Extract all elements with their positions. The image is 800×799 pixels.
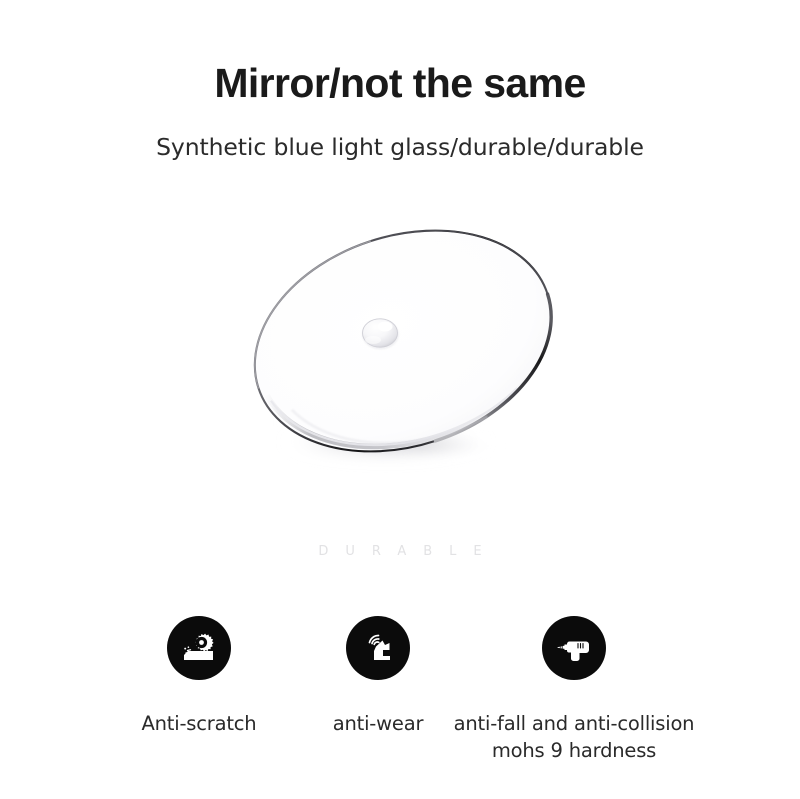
page-title: Mirror/not the same (0, 58, 800, 108)
feature-label-line2: mohs 9 hardness (434, 737, 714, 764)
feature-item-anti-fall: anti-fall and anti-collision mohs 9 hard… (434, 616, 714, 764)
feature-label-line1: anti-fall and anti-collision (454, 712, 695, 735)
water-droplet (362, 319, 399, 350)
product-feature-page: Mirror/not the same Synthetic blue light… (0, 0, 800, 799)
disc-shadow (276, 409, 504, 460)
feature-list: Anti-scratch anti-wear (0, 616, 800, 786)
power-drill-icon (554, 628, 594, 668)
disc-body (228, 214, 578, 488)
disc-edge-thickness (267, 317, 536, 482)
abrasion-wave-icon (359, 629, 397, 667)
feature-label-line1: anti-wear (333, 712, 424, 735)
feature-label: anti-fall and anti-collision mohs 9 hard… (434, 710, 714, 764)
glass-disc-illustration (228, 214, 578, 504)
disc-rim (228, 214, 578, 488)
header: Mirror/not the same Synthetic blue light… (0, 58, 800, 163)
feature-icon-badge (542, 616, 606, 680)
feature-icon-badge (167, 616, 231, 680)
circular-saw-blade-icon (179, 628, 219, 668)
feature-label-line1: Anti-scratch (142, 712, 257, 735)
page-subtitle: Synthetic blue light glass/durable/durab… (0, 108, 800, 163)
durable-watermark: DURABLE (0, 544, 800, 559)
disc-reflection (292, 353, 489, 477)
feature-icon-badge (346, 616, 410, 680)
